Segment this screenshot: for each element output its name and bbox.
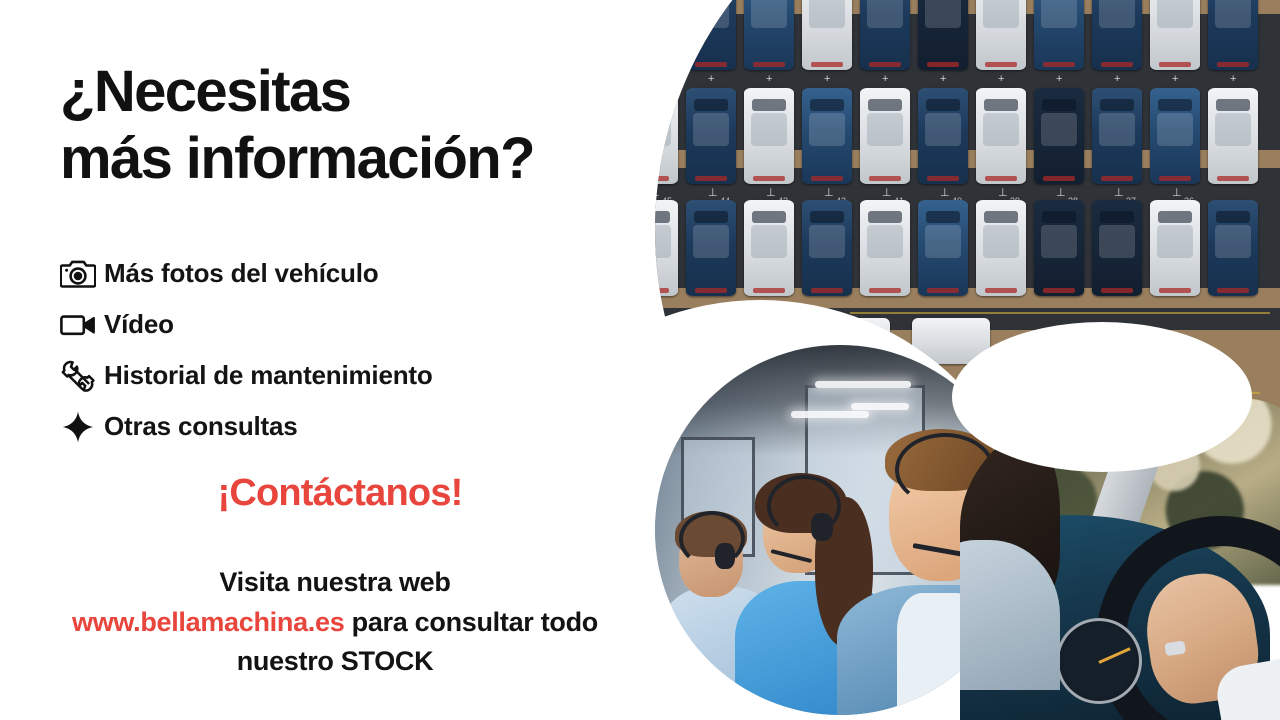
feature-label: Otras consultas — [104, 411, 298, 442]
feature-label: Vídeo — [104, 309, 174, 340]
website-line-tail: para consultar todo — [344, 607, 598, 637]
stock-line: nuestro STOCK — [10, 642, 660, 682]
wrench-tools-icon — [52, 359, 104, 393]
website-url[interactable]: www.bellamachina.es — [72, 607, 344, 637]
collage-inner-gap-arc — [952, 322, 1252, 472]
feature-item-maintenance-history: Historial de mantenimiento — [52, 350, 612, 401]
page-title: ¿Necesitas más información? — [60, 58, 700, 193]
feature-item-video: Vídeo — [52, 299, 612, 350]
website-promo: Visita nuestra web www.bellamachina.es p… — [10, 563, 660, 682]
photo-collage: + + + + + + + + + + + — [600, 0, 1280, 720]
contact-cta[interactable]: ¡Contáctanos! — [60, 472, 620, 515]
feature-label: Historial de mantenimiento — [104, 360, 433, 391]
video-camera-icon — [52, 312, 104, 338]
sparkle-icon — [52, 410, 104, 444]
website-line: www.bellamachina.es para consultar todo — [10, 603, 660, 643]
feature-label: Más fotos del vehículo — [104, 258, 378, 289]
feature-item-other-inquiries: Otras consultas — [52, 401, 612, 452]
feature-item-more-photos: Más fotos del vehículo — [52, 248, 612, 299]
promo-banner: + + + + + + + + + + + — [0, 0, 1280, 720]
visit-web-line: Visita nuestra web — [10, 563, 660, 603]
camera-icon — [52, 259, 104, 289]
feature-list: Más fotos del vehículo Vídeo — [52, 248, 612, 452]
cta-label: ¡Contáctanos! — [217, 472, 462, 514]
